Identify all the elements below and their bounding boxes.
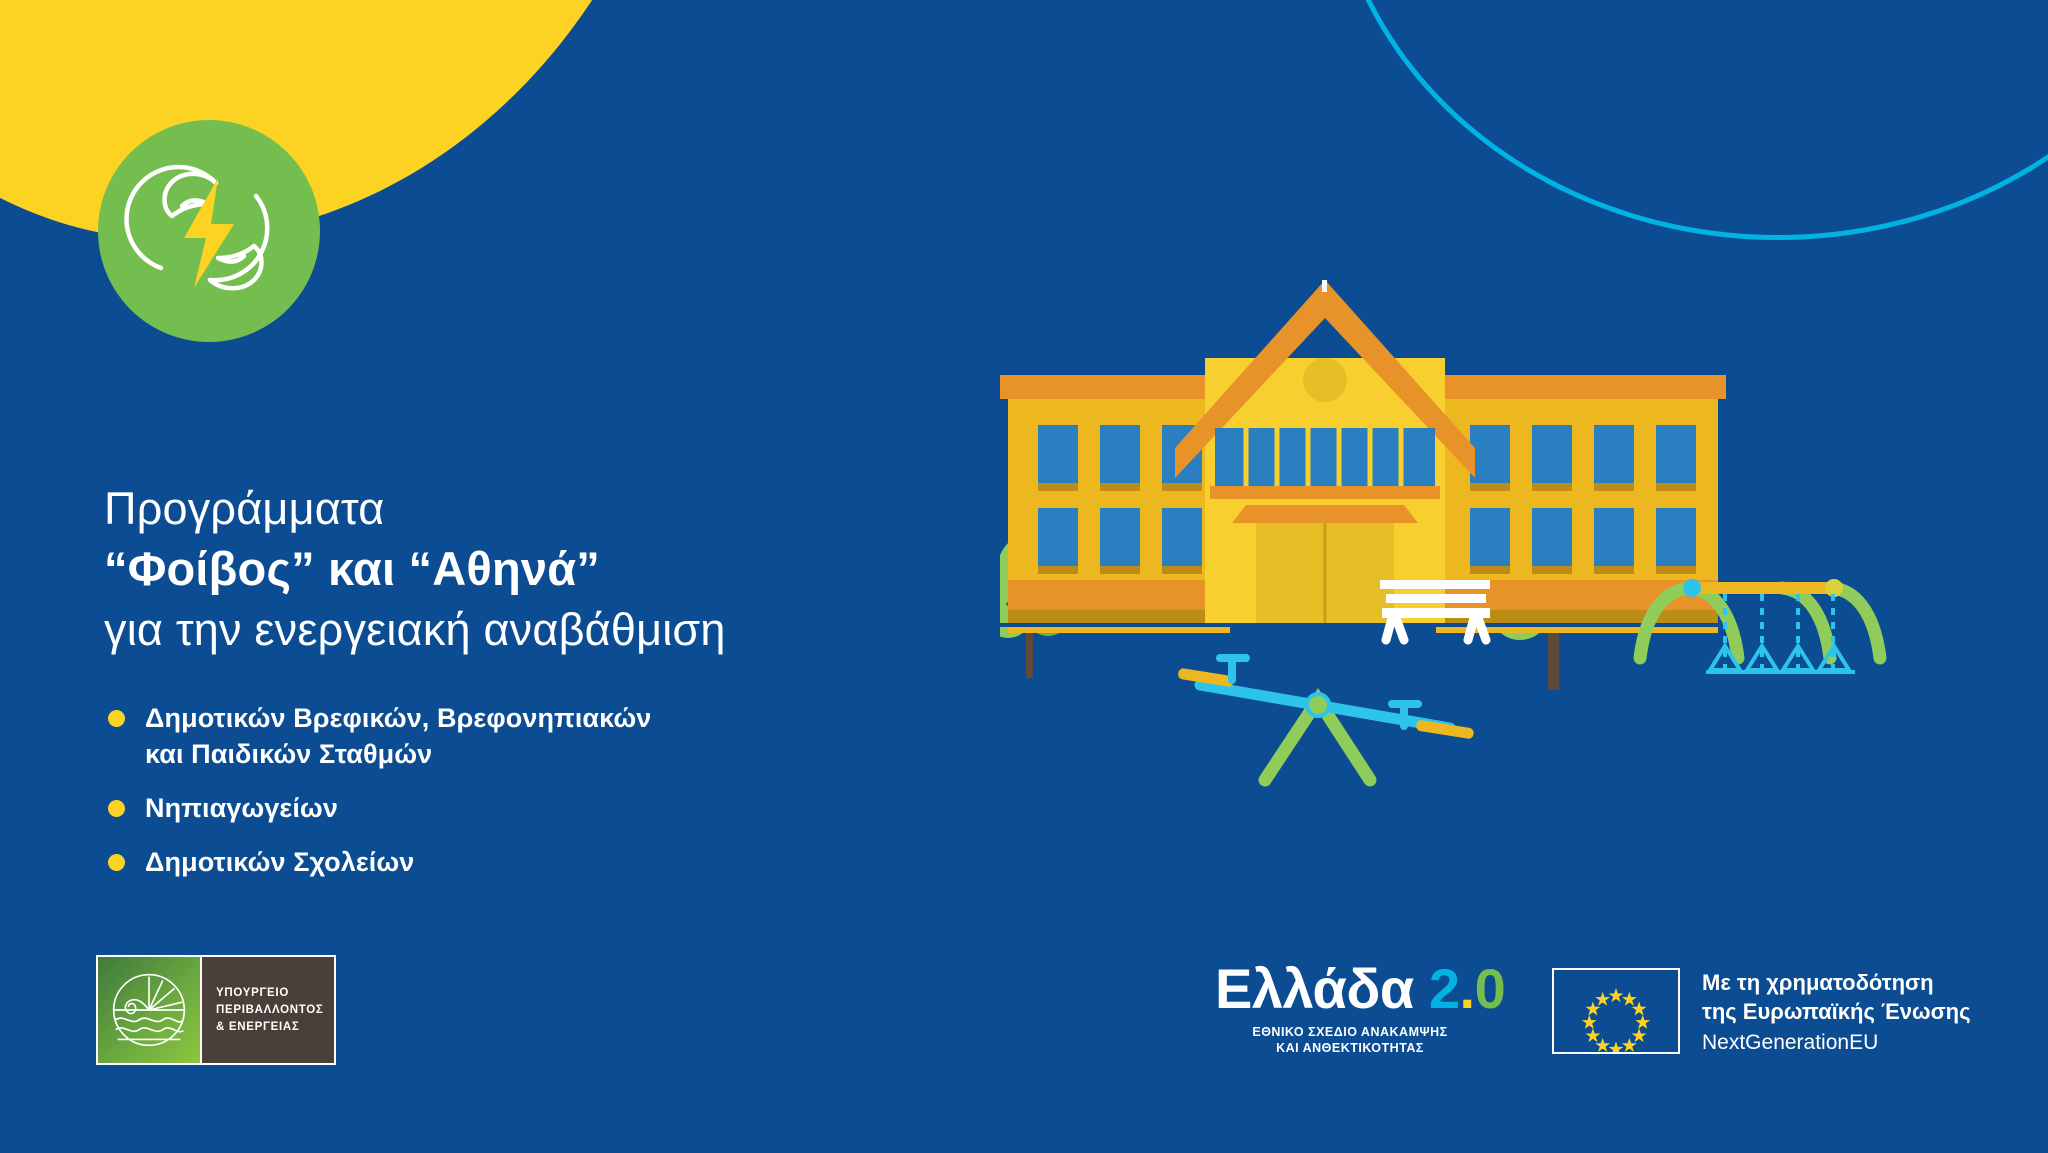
ellada-wordmark: Ελλάδα 2.0	[1215, 960, 1485, 1018]
ministry-sun-sea-emblem-icon	[98, 957, 202, 1063]
bullet-dot-icon	[108, 710, 125, 727]
park-bench	[1380, 580, 1490, 640]
page-title: Προγράμματα “Φοίβος” και “Αθηνά” για την…	[104, 480, 726, 660]
eu-line-2: της Ευρωπαϊκής Ένωσης	[1702, 997, 1971, 1026]
ellada-subtitle-line-2: ΚΑΙ ΑΝΘΕΚΤΙΚΟΤΗΤΑΣ	[1215, 1040, 1485, 1056]
headline-line-2: “Φοίβος” και “Αθηνά”	[104, 538, 726, 600]
eu-line-3: NextGenerationEU	[1702, 1028, 1971, 1058]
bullet-dot-icon	[108, 854, 125, 871]
ellada-word: Ελλάδα	[1215, 957, 1414, 1020]
eu-funding-block: Με τη χρηματοδότηση της Ευρωπαϊκής Ένωση…	[1552, 968, 1971, 1058]
list-item-label: Δημοτικών Βρεφικών, Βρεφονηπιακώνκαι Παι…	[145, 700, 651, 772]
ministry-logo: ΥΠΟΥΡΓΕΙΟ ΠΕΡΙΒΑΛΛΟΝΤΟΣ & ΕΝΕΡΓΕΙΑΣ	[96, 955, 336, 1065]
ellada-dot: .	[1460, 957, 1475, 1020]
list-item: Δημοτικών Σχολείων	[108, 844, 848, 880]
ellada-2-0-logo: Ελλάδα 2.0 ΕΘΝΙΚΟ ΣΧΕΔΙΟ ΑΝΑΚΑΜΨΗΣ ΚΑΙ Α…	[1215, 960, 1485, 1056]
eu-funding-text: Με τη χρηματοδότηση της Ευρωπαϊκής Ένωση…	[1702, 968, 1971, 1058]
poster-canvas: Προγράμματα “Φοίβος” και “Αθηνά” για την…	[0, 0, 2048, 1153]
list-item-label: Δημοτικών Σχολείων	[145, 844, 414, 880]
school-building-illustration	[1000, 280, 2010, 930]
ministry-line-2: ΠΕΡΙΒΑΛΛΟΝΤΟΣ	[216, 1002, 334, 1019]
ellada-zero: 0	[1475, 957, 1506, 1020]
ministry-line-1: ΥΠΟΥΡΓΕΙΟ	[216, 985, 334, 1002]
beneficiary-list: Δημοτικών Βρεφικών, Βρεφονηπιακώνκαι Παι…	[108, 700, 848, 898]
ministry-line-3: & ΕΝΕΡΓΕΙΑΣ	[216, 1019, 334, 1036]
ministry-logo-text: ΥΠΟΥΡΓΕΙΟ ΠΕΡΙΒΑΛΛΟΝΤΟΣ & ΕΝΕΡΓΕΙΑΣ	[202, 957, 334, 1063]
seesaw	[1177, 658, 1474, 780]
energy-recycle-icon	[98, 120, 320, 342]
headline-line-1: Προγράμματα	[104, 480, 726, 538]
bullet-dot-icon	[108, 800, 125, 817]
headline-line-3: για την ενεργειακή αναβάθμιση	[104, 600, 726, 660]
ellada-subtitle-line-1: ΕΘΝΙΚΟ ΣΧΕΔΙΟ ΑΝΑΚΑΜΨΗΣ	[1215, 1024, 1485, 1040]
cyan-arc-decoration	[1328, 0, 2048, 240]
list-item-label: Νηπιαγωγείων	[145, 790, 338, 826]
eu-line-1: Με τη χρηματοδότηση	[1702, 968, 1971, 997]
round-attic-window	[1303, 358, 1347, 402]
ellada-two: 2	[1429, 957, 1460, 1020]
european-union-flag-icon	[1552, 968, 1680, 1054]
list-item: Νηπιαγωγείων	[108, 790, 848, 826]
ellada-subtitle: ΕΘΝΙΚΟ ΣΧΕΔΙΟ ΑΝΑΚΑΜΨΗΣ ΚΑΙ ΑΝΘΕΚΤΙΚΟΤΗΤ…	[1215, 1024, 1485, 1056]
list-item: Δημοτικών Βρεφικών, Βρεφονηπιακώνκαι Παι…	[108, 700, 848, 772]
